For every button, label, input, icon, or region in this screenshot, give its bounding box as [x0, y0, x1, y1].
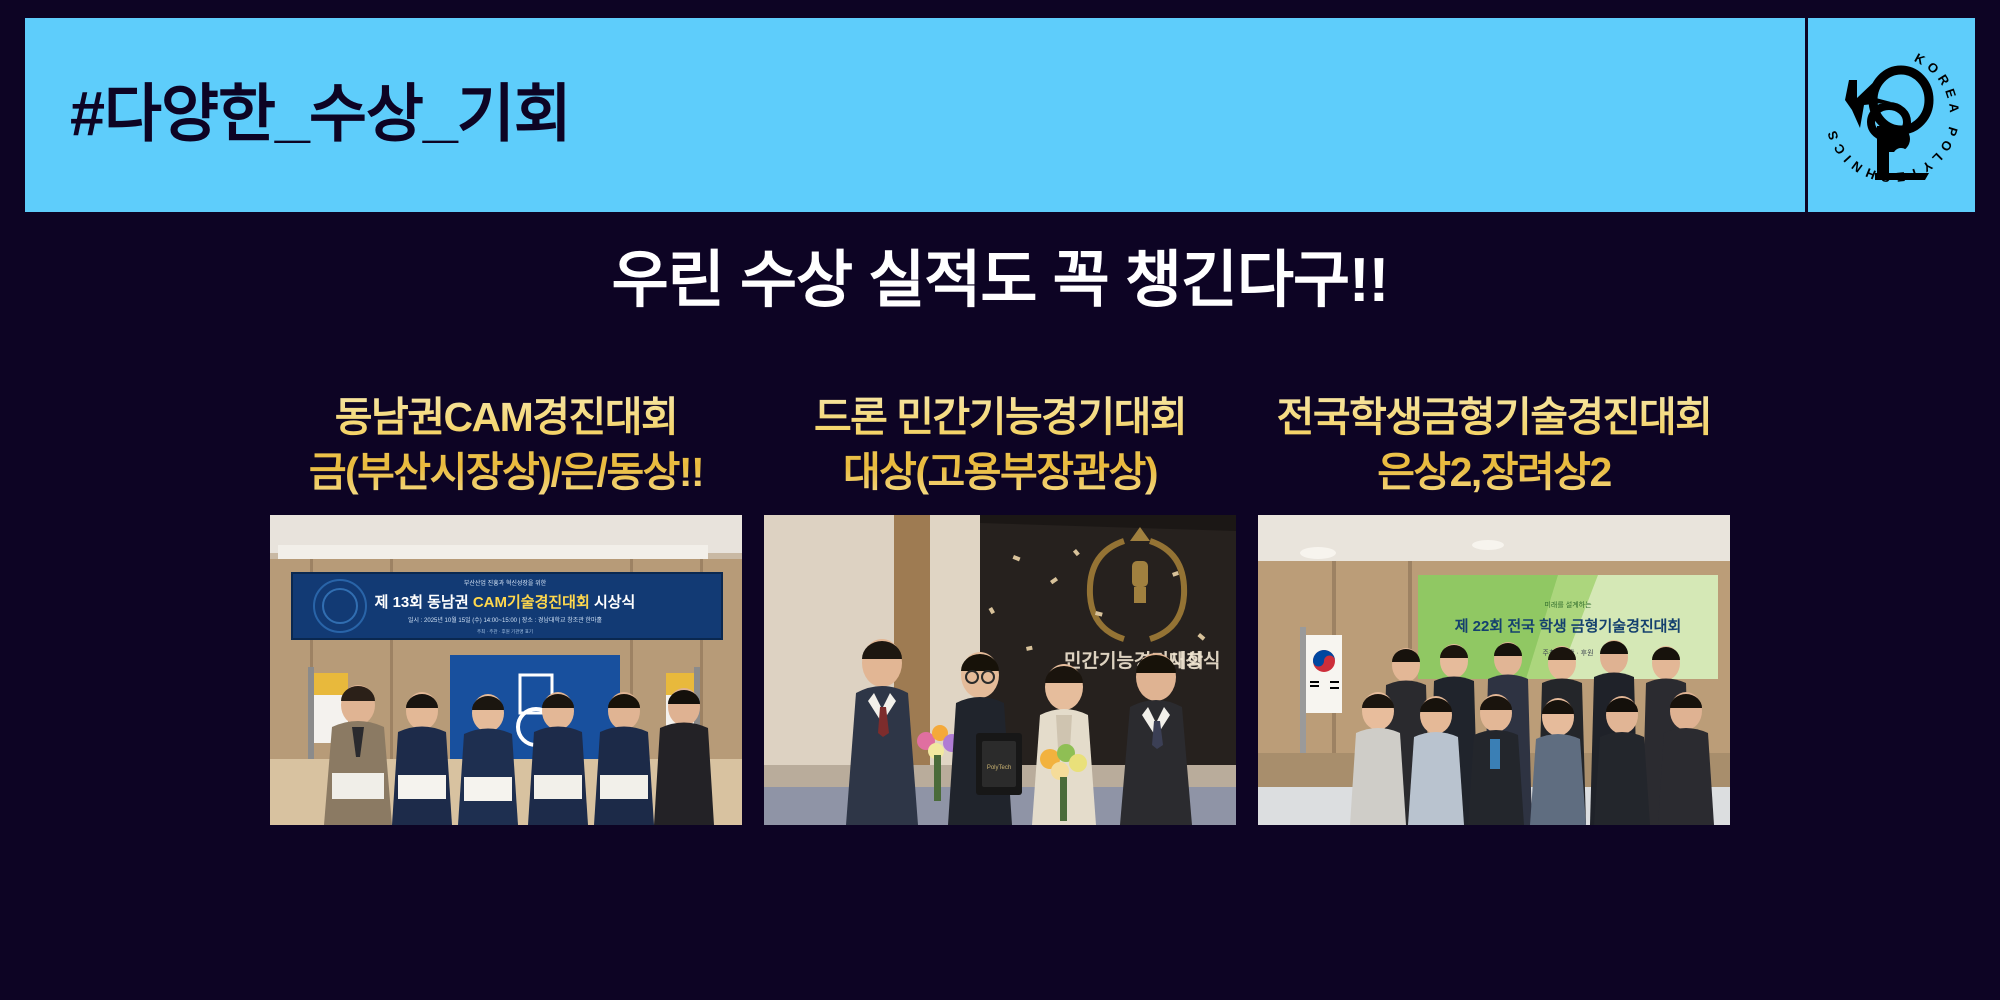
award-caption-3: 전국학생금형기술경진대회 은상2,장려상2 — [1277, 390, 1712, 511]
award-caption-1-line2: 금(부산시장상)/은/동상!! — [309, 445, 703, 500]
svg-text:PolyTech: PolyTech — [987, 765, 1011, 771]
logo-container: KOREA POLYTECHNICS — [1805, 18, 1975, 212]
award-caption-2-line2: 대상(고용부장관상) — [814, 445, 1186, 500]
award-photo-1: 부산산업 진흥과 혁신성장을 위한 제 13회 동남권 CAM기술경진대회 시상… — [270, 515, 742, 825]
award-caption-3-line1: 전국학생금형기술경진대회 — [1277, 390, 1712, 445]
award-card-3: 전국학생금형기술경진대회 은상2,장려상2 — [1258, 390, 1730, 950]
award-columns: 동남권CAM경진대회 금(부산시장상)/은/동상!! — [0, 390, 2000, 950]
svg-text:시상식: 시상식 — [1168, 650, 1220, 672]
award-caption-1-line1: 동남권CAM경진대회 — [309, 390, 703, 445]
award-caption-2: 드론 민간기능경기대회 대상(고용부장관상) — [814, 390, 1186, 511]
poster-root: #다양한_수상_기회 KOREA POLYTECHNICS — [0, 0, 2000, 1000]
korea-polytechnics-logo-icon: KOREA POLYTECHNICS — [1817, 40, 1967, 190]
page-title: #다양한_수상_기회 — [70, 84, 571, 147]
main-headline: 우린 수상 실적도 꼭 챙긴다구!! — [0, 248, 2000, 313]
award-card-2: 드론 민간기능경기대회 대상(고용부장관상) — [764, 390, 1236, 950]
svg-text:일시 : 2025년 10월 15일 (수) 14:00~1: 일시 : 2025년 10월 15일 (수) 14:00~15:00 | 장소 … — [408, 616, 602, 624]
award-caption-3-line2: 은상2,장려상2 — [1277, 445, 1712, 500]
award-card-1: 동남권CAM경진대회 금(부산시장상)/은/동상!! — [270, 390, 742, 950]
award-caption-1: 동남권CAM경진대회 금(부산시장상)/은/동상!! — [309, 390, 703, 511]
award-photo-2: 민간기능경기대회 시상식 — [764, 515, 1236, 825]
svg-text:제 13회 동남권 CAM기술경진대회 시상식: 제 13회 동남권 CAM기술경진대회 시상식 — [375, 593, 636, 611]
svg-text:부산산업 진흥과 혁신성장을 위한: 부산산업 진흥과 혁신성장을 위한 — [464, 579, 547, 587]
award-photo-3: 미래를 설계하는 제 22회 전국 학생 금형기술경진대회 주최 · 주관 · … — [1258, 515, 1730, 825]
svg-text:제 22회 전국 학생 금형기술경진대회: 제 22회 전국 학생 금형기술경진대회 — [1455, 617, 1682, 635]
svg-text:주최 · 주관 · 후원 기관명 표기: 주최 · 주관 · 후원 기관명 표기 — [477, 628, 533, 635]
header-banner: #다양한_수상_기회 KOREA POLYTECHNICS — [25, 18, 1975, 212]
award-caption-2-line1: 드론 민간기능경기대회 — [814, 390, 1186, 445]
svg-text:미래를 설계하는: 미래를 설계하는 — [1544, 600, 1592, 609]
